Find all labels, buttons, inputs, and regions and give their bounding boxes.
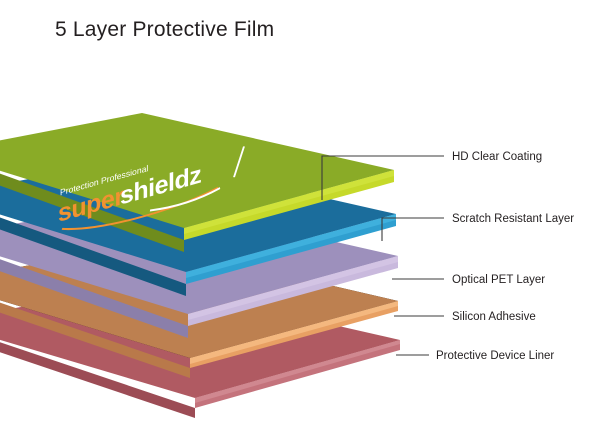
label-protective-device-liner: Protective Device Liner	[436, 350, 554, 362]
layer-stack-diagram: Protection Professional super shieldz HD…	[0, 0, 600, 423]
label-scratch-resistant: Scratch Resistant Layer	[452, 213, 574, 225]
label-hd-clear-coating: HD Clear Coating	[452, 151, 542, 163]
label-optical-pet: Optical PET Layer	[452, 274, 545, 286]
label-silicon-adhesive: Silicon Adhesive	[452, 311, 536, 323]
screenshot-root: 5 Layer Protective Film	[0, 0, 600, 423]
